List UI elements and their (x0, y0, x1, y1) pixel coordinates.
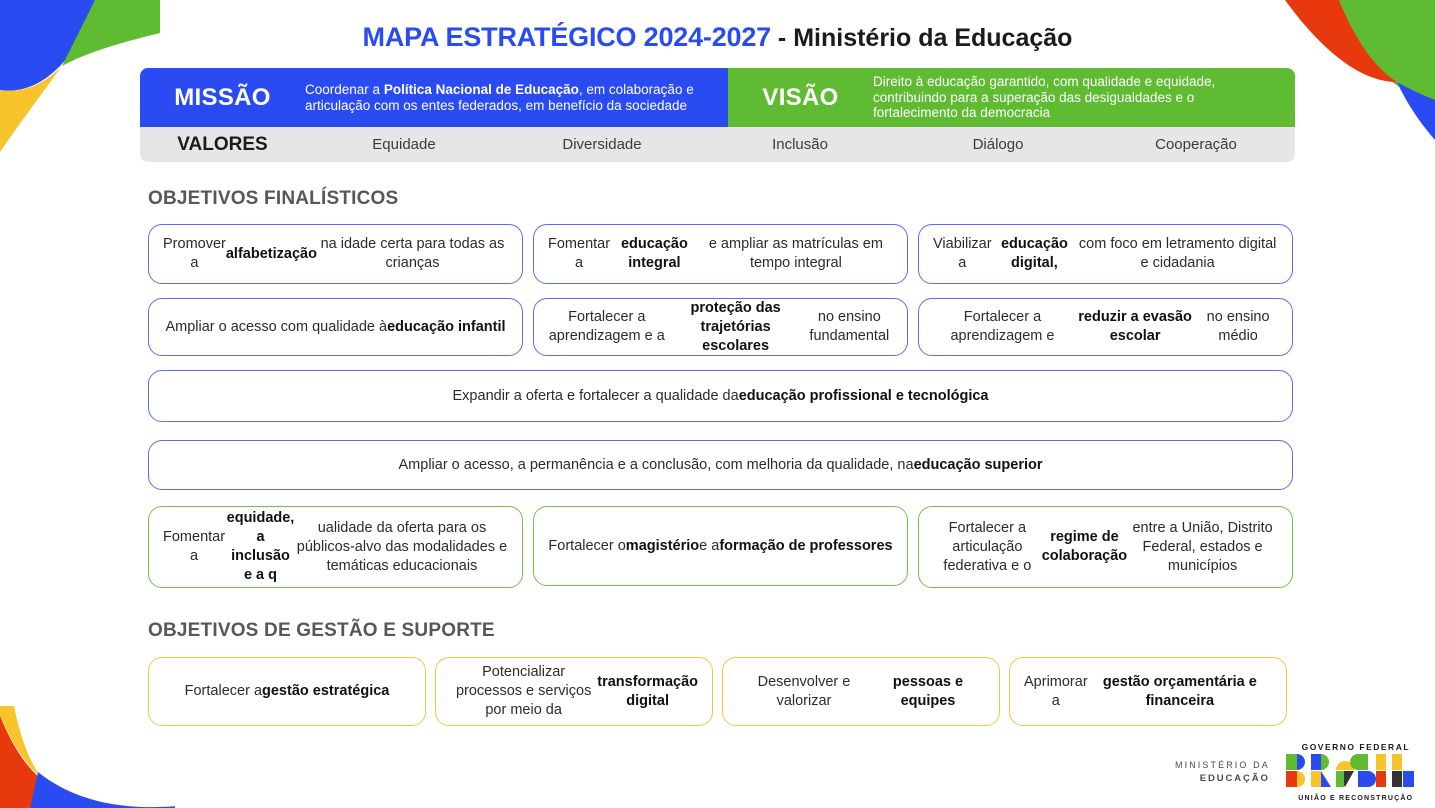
section-heading-finalisticos: OBJETIVOS FINALÍSTICOS (148, 188, 398, 210)
mission-label: MISSÃO (140, 84, 305, 112)
mec-logo-line2: EDUCAÇÃO (1175, 772, 1270, 785)
vision-label: VISÃO (728, 84, 873, 112)
objective-box: Fortalecer a gestão estratégica (148, 657, 426, 726)
mission-vision-values-band: MISSÃO Coordenar a Política Nacional de … (140, 68, 1295, 162)
value-item: Equidade (305, 136, 503, 153)
objective-box: Potencializar processos e serviços por m… (435, 657, 713, 726)
value-item: Inclusão (701, 136, 899, 153)
objective-box: Desenvolver e valorizar pessoas e equipe… (722, 657, 1000, 726)
value-item: Diálogo (899, 136, 1097, 153)
objective-box: Fomentar a equidade, a inclusão e a qual… (148, 506, 523, 588)
section-heading-gestao: OBJETIVOS DE GESTÃO E SUPORTE (148, 620, 495, 642)
values-list: Equidade Diversidade Inclusão Diálogo Co… (305, 136, 1295, 153)
page-title-main: MAPA ESTRATÉGICO 2024-2027 (363, 22, 771, 52)
objective-box: Fortalecer a articulação federativa e o … (918, 506, 1293, 588)
objective-box: Ampliar o acesso, a permanência e a conc… (148, 440, 1293, 490)
mission-vision-row: MISSÃO Coordenar a Política Nacional de … (140, 68, 1295, 127)
governo-federal-logo: GOVERNO FEDERAL (1286, 742, 1426, 802)
objective-box: Fortalecer a aprendizagem e a proteção d… (533, 298, 908, 356)
footer-logos: MINISTÉRIO DA EDUCAÇÃO GOVERNO FEDERAL (1175, 742, 1426, 802)
mission-text: Coordenar a Política Nacional de Educaçã… (305, 82, 728, 113)
gov-logo-bottom-text: UNIÃO E RECONSTRUÇÃO (1286, 795, 1426, 802)
page-title-separator: - (771, 24, 793, 52)
value-item: Diversidade (503, 136, 701, 153)
page-title: MAPA ESTRATÉGICO 2024-2027 - Ministério … (0, 22, 1435, 53)
mission-block: MISSÃO Coordenar a Política Nacional de … (140, 68, 728, 127)
objective-box: Viabilizar a educação digital, com foco … (918, 224, 1293, 284)
objective-box: Expandir a oferta e fortalecer a qualida… (148, 370, 1293, 422)
vision-block: VISÃO Direito à educação garantido, com … (728, 68, 1295, 127)
vision-text: Direito à educação garantido, com qualid… (873, 74, 1295, 121)
values-label: VALORES (140, 134, 305, 156)
values-row: VALORES Equidade Diversidade Inclusão Di… (140, 127, 1295, 162)
gov-logo-top-text: GOVERNO FEDERAL (1286, 742, 1426, 752)
mec-logo-line1: MINISTÉRIO DA (1175, 759, 1270, 772)
ministry-of-education-logo: MINISTÉRIO DA EDUCAÇÃO (1175, 759, 1270, 785)
strategic-map-poster: MAPA ESTRATÉGICO 2024-2027 - Ministério … (0, 0, 1435, 808)
value-item: Cooperação (1097, 136, 1295, 153)
objective-box: Promover a alfabetização na idade certa … (148, 224, 523, 284)
decorative-corner-top-right (1275, 0, 1435, 140)
objective-box: Ampliar o acesso com qualidade à educaçã… (148, 298, 523, 356)
brasil-wordmark-icon (1286, 754, 1426, 788)
objective-box: Aprimorar a gestão orçamentária e financ… (1009, 657, 1287, 726)
objective-box: Fortalecer a aprendizagem e reduzir a ev… (918, 298, 1293, 356)
page-title-subtitle: Ministério da Educação (793, 24, 1072, 52)
objective-box: Fortalecer o magistério e a formação de … (533, 506, 908, 586)
objective-box: Fomentar a educação integral e ampliar a… (533, 224, 908, 284)
